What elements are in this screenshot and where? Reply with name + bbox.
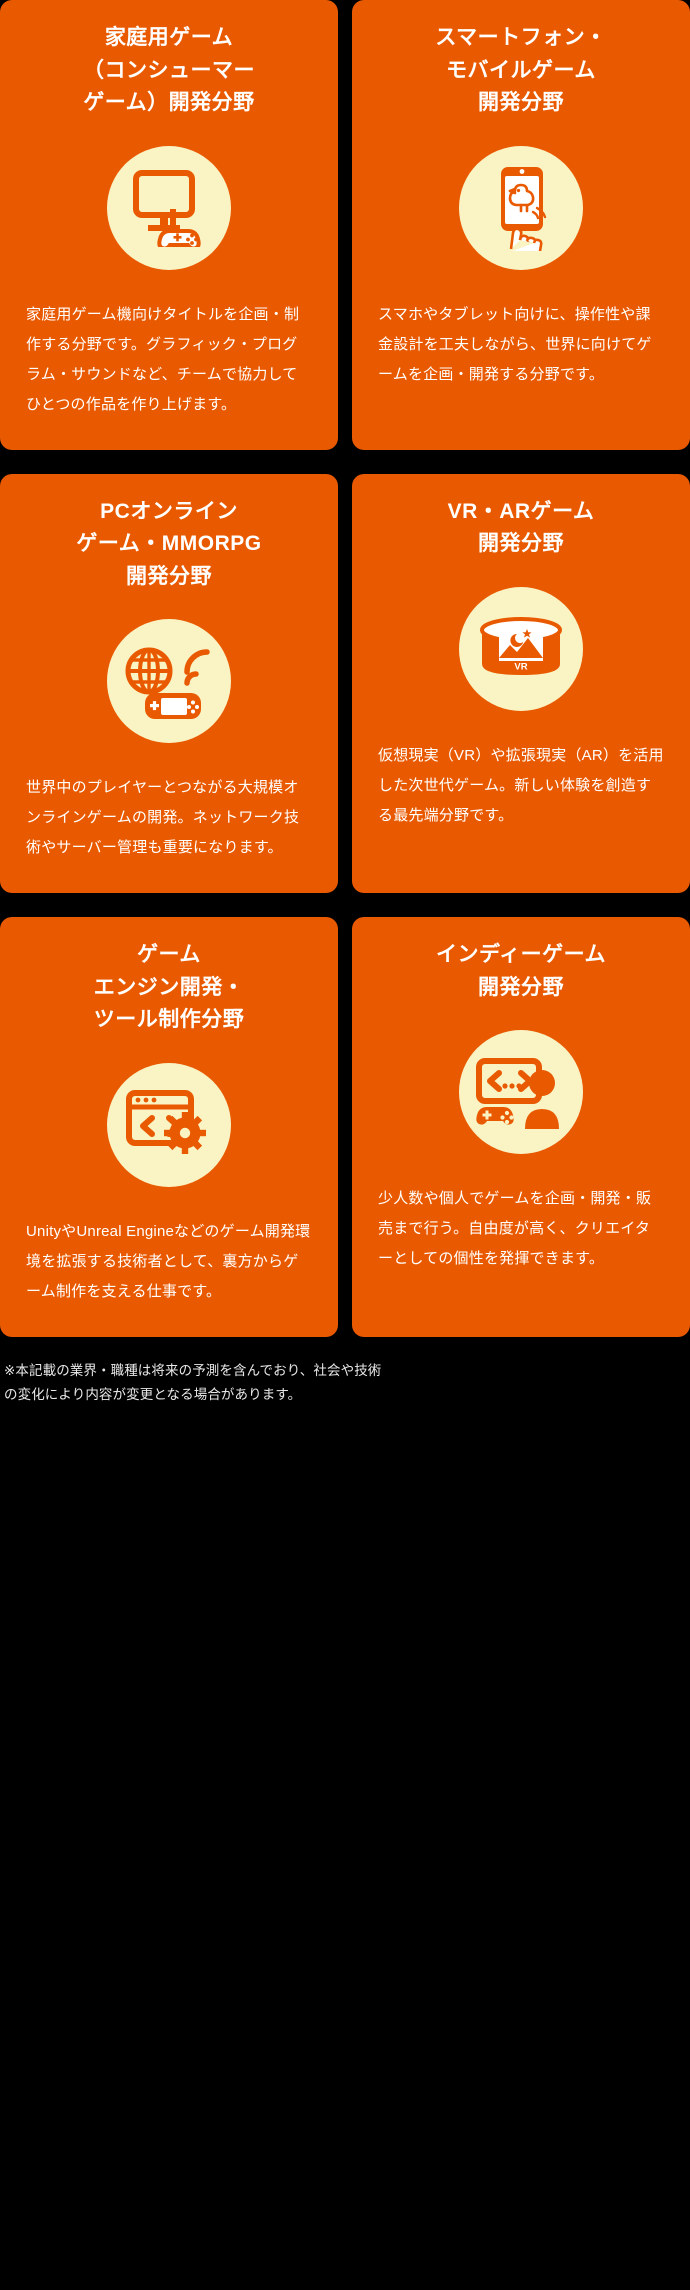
card-body: スマホやタブレット向けに、操作性や課金設計を工夫しながら、世界に向けてゲームを企… (378, 300, 664, 390)
card-title: VR・ARゲーム 開発分野 (448, 496, 595, 561)
card-indie-game[interactable]: インディーゲーム 開発分野 (352, 917, 690, 1337)
indie-developer-icon (459, 1030, 583, 1154)
card-pc-online-mmorpg[interactable]: PCオンライン ゲーム・MMORPG 開発分野 (0, 474, 338, 894)
footer-disclaimer: ※本記載の業界・職種は将来の予測を含んでおり、社会や技術 の変化により内容が変更… (0, 1337, 690, 1420)
card-body: 少人数や個人でゲームを企画・開発・販売まで行う。自由度が高く、クリエイターとして… (378, 1184, 664, 1274)
card-title: スマートフォン・ モバイルゲーム 開発分野 (435, 22, 606, 120)
card-consumer-game[interactable]: 家庭用ゲーム （コンシューマー ゲーム）開発分野 (0, 0, 338, 450)
smartphone-touch-icon (459, 146, 583, 270)
card-game-engine-tools[interactable]: ゲーム エンジン開発・ ツール制作分野 (0, 917, 338, 1337)
card-body: 仮想現実（VR）や拡張現実（AR）を活用した次世代ゲーム。新しい体験を創造する最… (378, 741, 664, 831)
card-title: インディーゲーム 開発分野 (436, 939, 606, 1004)
card-vr-ar-game[interactable]: VR・ARゲーム 開発分野 VR 仮想現実（VR）や拡張現実（AR）を活用した次… (352, 474, 690, 894)
card-body: UnityやUnreal Engineなどのゲーム開発環境を拡張する技術者として… (26, 1217, 312, 1307)
card-title: ゲーム エンジン開発・ ツール制作分野 (94, 939, 245, 1037)
svg-text:VR: VR (514, 661, 527, 672)
cards-grid: 家庭用ゲーム （コンシューマー ゲーム）開発分野 (0, 0, 690, 1337)
card-body: 家庭用ゲーム機向けタイトルを企画・制作する分野です。グラフィック・プログラム・サ… (26, 300, 312, 420)
card-body: 世界中のプレイヤーとつながる大規模オンラインゲームの開発。ネットワーク技術やサー… (26, 773, 312, 863)
globe-handheld-wifi-icon (107, 619, 231, 743)
card-title: PCオンライン ゲーム・MMORPG 開発分野 (76, 496, 261, 594)
card-smartphone-game[interactable]: スマートフォン・ モバイルゲーム 開発分野 (352, 0, 690, 450)
footer-disclaimer-line-1: ※本記載の業界・職種は将来の予測を含んでおり、社会や技術 (4, 1359, 686, 1383)
vr-headset-icon: VR (459, 587, 583, 711)
game-fields-card-grid-page: 家庭用ゲーム （コンシューマー ゲーム）開発分野 (0, 0, 690, 2290)
footer-disclaimer-line-2: の変化により内容が変更となる場合があります。 (4, 1383, 686, 1407)
card-title: 家庭用ゲーム （コンシューマー ゲーム）開発分野 (83, 22, 255, 120)
code-window-gear-icon (107, 1063, 231, 1187)
tv-game-console-icon (107, 146, 231, 270)
